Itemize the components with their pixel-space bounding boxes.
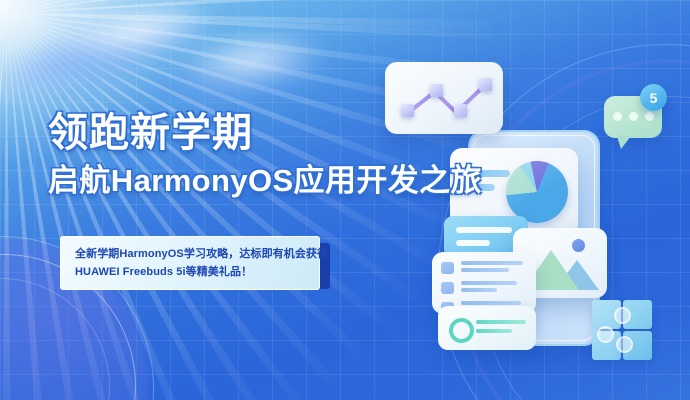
headline-block: 领跑新学期 启航HarmonyOS应用开发之旅 xyxy=(48,112,482,198)
light-rays xyxy=(0,0,490,400)
illustration-group: 5 xyxy=(0,0,690,400)
promo-line-1: 全新学期HarmonyOS学习攻略，达标即有机会获得 xyxy=(75,245,307,263)
ellipsis-dots xyxy=(613,112,654,121)
pie-chart xyxy=(506,161,568,223)
cloud-shape xyxy=(4,0,223,108)
page-subtitle: 启航HarmonyOS应用开发之旅 xyxy=(48,164,482,198)
document-list-card xyxy=(432,252,536,314)
puzzle-pieces xyxy=(592,300,654,362)
corner-arc-ring xyxy=(0,278,110,400)
list-item xyxy=(441,281,527,295)
list-item xyxy=(441,261,527,275)
promo-line-2: HUAWEI Freebuds 5i等精美礼品！ xyxy=(75,263,307,281)
promo-callout: 全新学期HarmonyOS学习攻略，达标即有机会获得 HUAWEI Freebu… xyxy=(60,236,320,290)
promo-box: 全新学期HarmonyOS学习攻略，达标即有机会获得 HUAWEI Freebu… xyxy=(60,236,320,290)
puzzle-knob xyxy=(614,307,631,324)
text-lines xyxy=(476,320,526,338)
text-lines xyxy=(461,281,527,295)
text-lines xyxy=(461,261,527,275)
cloud-shape xyxy=(174,26,329,93)
puzzle-knob xyxy=(616,336,633,353)
chart-node xyxy=(479,78,492,91)
list-bullet-icon xyxy=(441,282,454,294)
progress-card xyxy=(438,306,536,350)
page-title: 领跑新学期 xyxy=(48,112,482,154)
notification-badge: 5 xyxy=(640,84,667,111)
chart-node xyxy=(430,84,443,97)
puzzle-knob xyxy=(597,326,614,343)
cloud-shape xyxy=(53,0,219,68)
ring-progress-icon xyxy=(449,318,474,343)
promotional-banner: 5 领跑新学期 启航HarmonyOS应用开发之旅 全新学期HarmonyOS学… xyxy=(0,0,690,400)
list-bullet-icon xyxy=(441,262,454,274)
